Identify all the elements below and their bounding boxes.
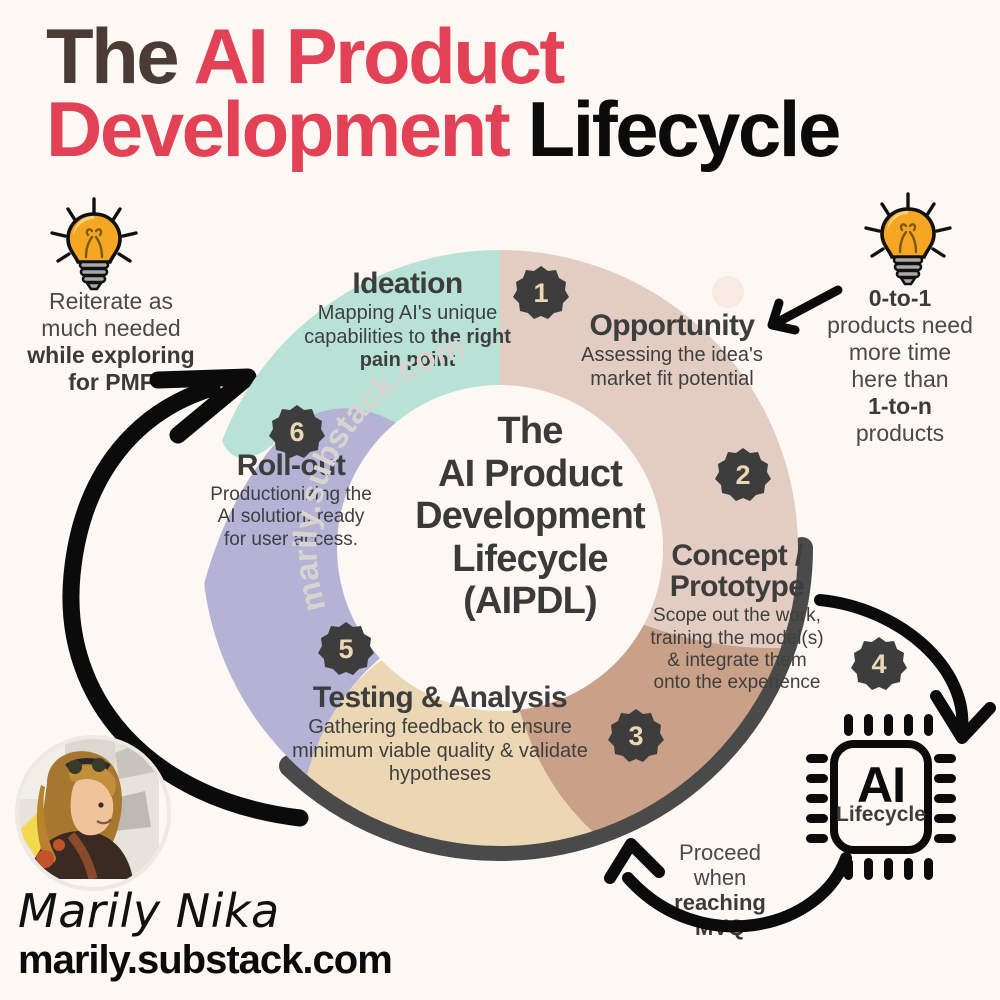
step-badge-1: 1 xyxy=(513,265,569,321)
author-site[interactable]: marily.substack.com xyxy=(18,938,392,983)
step-badge-6: 6 xyxy=(269,404,325,460)
author-name: Marily Nika xyxy=(18,884,280,938)
ai-chip-icon: AI Lifecycle xyxy=(806,712,956,882)
segment-title: Ideation xyxy=(300,268,515,299)
segment-title: Testing & Analysis xyxy=(285,682,595,713)
segment-desc: Assessing the idea's market fit potentia… xyxy=(572,344,772,391)
segment-label-ideation: Ideation Mapping AI's unique capabilitie… xyxy=(300,268,515,372)
donut-center-label: The AI Product Development Lifecycle (AI… xyxy=(370,410,690,623)
segment-label-testing: Testing & Analysis Gathering feedback to… xyxy=(285,682,595,786)
center-line-1: The xyxy=(370,410,690,453)
step-badge-2: 2 xyxy=(715,447,771,503)
avatar xyxy=(15,735,171,891)
step-badge-4: 4 xyxy=(851,636,907,692)
center-line-5: (AIPDL) xyxy=(370,580,690,623)
center-line-3: Development xyxy=(370,495,690,538)
center-line-2: AI Product xyxy=(370,453,690,496)
segment-desc: Productionizing the AI solution, ready f… xyxy=(205,484,377,551)
segment-label-rollout: Roll-out Productionizing the AI solution… xyxy=(205,450,377,551)
segment-label-opportunity: Opportunity Assessing the idea's market … xyxy=(572,310,772,391)
decor-dot xyxy=(712,276,744,308)
segment-desc: Gathering feedback to ensure minimum via… xyxy=(285,716,595,786)
infographic-canvas: The AI Product Development Lifecycle xyxy=(0,0,1000,1000)
segment-desc: Mapping AI's unique capabilities to the … xyxy=(300,302,515,372)
step-badge-5: 5 xyxy=(318,621,374,677)
segment-title: Opportunity xyxy=(572,310,772,341)
step-badge-3: 3 xyxy=(608,708,664,764)
center-line-4: Lifecycle xyxy=(370,538,690,581)
